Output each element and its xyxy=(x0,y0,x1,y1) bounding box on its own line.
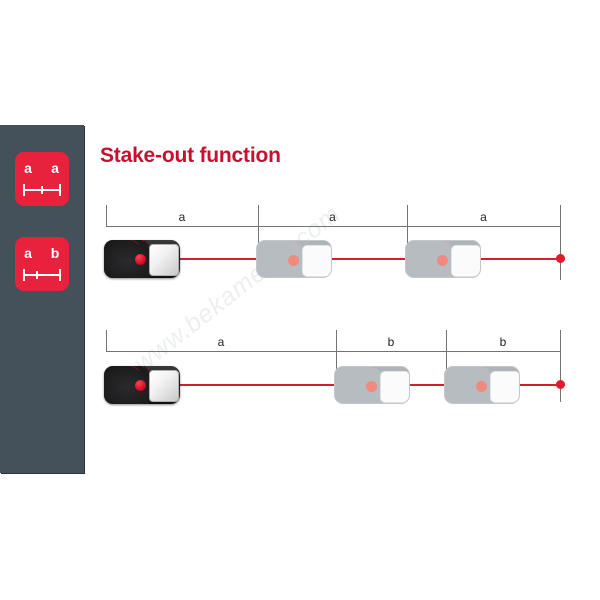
device-display-screen xyxy=(451,245,481,277)
dimension-tick xyxy=(560,205,561,280)
badge-letter-right: b xyxy=(48,245,62,262)
sidebar-panel: a a a b xyxy=(0,125,84,473)
bar-cap-left xyxy=(23,269,25,281)
dimension-label: b xyxy=(446,335,560,349)
badge-letter-left: a xyxy=(21,160,35,177)
device-swoosh-graphic xyxy=(444,366,495,404)
device-power-button xyxy=(288,255,299,266)
device-power-button xyxy=(366,381,377,392)
page-title: Stake-out function xyxy=(100,144,281,168)
device-display-screen xyxy=(149,244,179,276)
badge-letters: a b xyxy=(15,245,69,262)
dimension-label: a xyxy=(106,210,258,224)
device-display-screen xyxy=(490,371,520,403)
bar-cap-left xyxy=(23,184,25,196)
dimension-label: b xyxy=(336,335,446,349)
bar-tick-middle xyxy=(36,271,38,279)
device-power-button[interactable] xyxy=(135,254,146,265)
device-display-screen xyxy=(380,371,410,403)
dimension-tick xyxy=(560,330,561,402)
laser-device-target-position xyxy=(334,366,410,404)
laser-device-target-position xyxy=(444,366,520,404)
laser-beam xyxy=(176,258,565,260)
badge-letters: a a xyxy=(15,160,69,177)
bar-cap-right xyxy=(59,184,61,196)
device-power-button[interactable] xyxy=(135,380,146,391)
device-swoosh-graphic xyxy=(405,240,456,278)
bar-line xyxy=(23,274,61,276)
dimension-label: a xyxy=(106,335,336,349)
laser-device-target-position xyxy=(405,240,481,278)
laser-device-active[interactable] xyxy=(104,240,180,278)
device-power-button xyxy=(476,381,487,392)
device-swoosh-graphic xyxy=(334,366,385,404)
measuring-bar-icon xyxy=(23,269,61,281)
dimension-baseline xyxy=(106,226,561,227)
laser-device-active[interactable] xyxy=(104,366,180,404)
badge-letter-right: a xyxy=(48,160,62,177)
laser-endpoint-dot xyxy=(556,380,565,389)
dimension-label: a xyxy=(258,210,407,224)
dimension-label: a xyxy=(407,210,560,224)
device-display-screen xyxy=(302,245,332,277)
measuring-bar-icon xyxy=(23,184,61,196)
bar-tick-middle xyxy=(41,186,43,194)
badge-letter-left: a xyxy=(21,245,35,262)
laser-endpoint-dot xyxy=(556,254,565,263)
sidebar-item-badge-unequal-distance[interactable]: a b xyxy=(15,237,69,291)
device-power-button xyxy=(437,255,448,266)
device-display-screen xyxy=(149,370,179,402)
device-swoosh-graphic xyxy=(256,240,307,278)
bar-cap-right xyxy=(59,269,61,281)
dimension-baseline xyxy=(106,351,561,352)
laser-device-target-position xyxy=(256,240,332,278)
sidebar-item-badge-equal-distance[interactable]: a a xyxy=(15,152,69,206)
diagram-canvas: www.bekamedia.com a a a b xyxy=(0,0,600,600)
